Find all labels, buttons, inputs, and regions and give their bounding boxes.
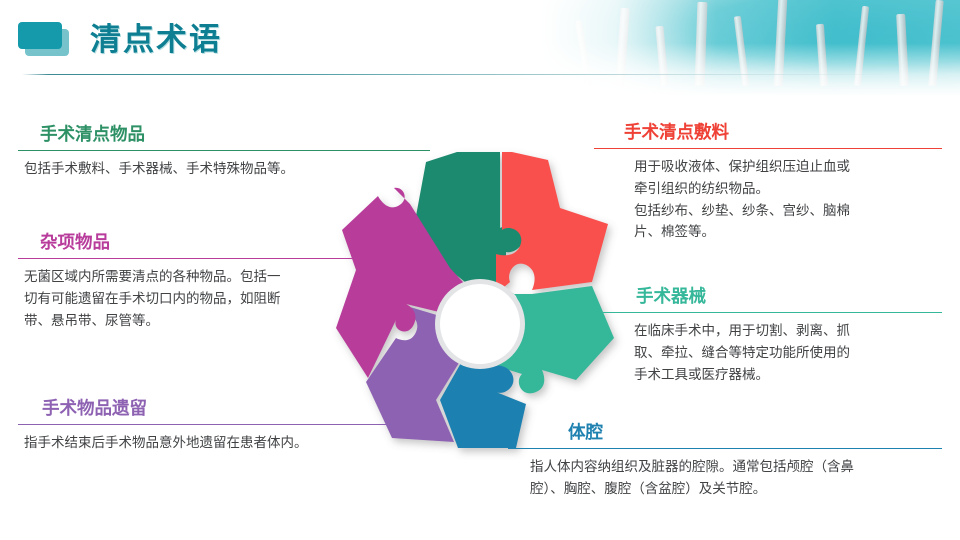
- piece-red: [496, 152, 608, 294]
- slide-canvas: 清点术语: [0, 0, 960, 540]
- term-body-line: 手术工具或医疗器械。: [634, 364, 942, 386]
- term-block-dressing: 手术清点敷料 用于吸收液体、保护组织压迫止血或 牵引组织的纺织物品。 包括纱布、…: [594, 122, 942, 243]
- term-block-cavity: 体腔 指人体内容纳组织及脏器的腔隙。通常包括颅腔（含鼻 腔）、胸腔、腹腔（含盆腔…: [508, 422, 942, 500]
- instrument-7: [816, 24, 828, 86]
- term-body-line: 片、棉签等。: [634, 221, 942, 243]
- term-body-misc: 无菌区域内所需要清点的各种物品。包括一 切有可能遗留在手术切口内的物品，如阻断 …: [18, 266, 416, 332]
- term-block-misc: 杂项物品 无菌区域内所需要清点的各种物品。包括一 切有可能遗留在手术切口内的物品…: [18, 232, 416, 331]
- term-body-line: 用于吸收液体、保护组织压迫止血或: [634, 156, 942, 178]
- term-rule-retained: [18, 424, 434, 425]
- term-rule-misc: [18, 258, 416, 259]
- term-body-items: 包括手术敷料、手术器械、手术特殊物品等。: [18, 158, 430, 180]
- term-body-line: 指手术结束后手术物品意外地遗留在患者体内。: [24, 432, 434, 454]
- instrument-1: [575, 20, 592, 86]
- term-rule-dressing: [594, 148, 942, 149]
- term-body-line: 切有可能遗留在手术切口内的物品，如阻断: [24, 288, 416, 310]
- term-rule-instruments: [594, 312, 942, 313]
- center-circle: [440, 284, 520, 364]
- term-body-line: 指人体内容纳组织及脏器的腔隙。通常包括颅腔（含鼻: [530, 456, 942, 478]
- term-block-items: 手术清点物品 包括手术敷料、手术器械、手术特殊物品等。: [18, 124, 430, 180]
- term-body-line: 腔）、胸腔、腹腔（含盆腔）及关节腔。: [530, 478, 942, 500]
- instrument-10: [928, 0, 943, 86]
- surgical-instruments-photo: [540, 0, 960, 96]
- term-body-retained: 指手术结束后手术物品意外地遗留在患者体内。: [18, 432, 434, 454]
- term-body-line: 无菌区域内所需要清点的各种物品。包括一: [24, 266, 416, 288]
- term-body-line: 在临床手术中，用于切割、剥离、抓: [634, 320, 942, 342]
- term-body-line: 带、悬吊带、尿管等。: [24, 310, 416, 332]
- photo-fade-overlay: [540, 0, 960, 96]
- term-body-instruments: 在临床手术中，用于切割、剥离、抓 取、牵拉、缝合等特定功能所使用的 手术工具或医…: [594, 320, 942, 386]
- instrument-3: [655, 26, 668, 86]
- term-heading-instruments: 手术器械: [594, 286, 942, 308]
- title-divider: [22, 74, 902, 75]
- term-body-line: 牵引组织的纺织物品。: [634, 178, 942, 200]
- instrument-5: [734, 16, 749, 86]
- card-front-shape: [18, 22, 62, 49]
- term-heading-cavity: 体腔: [508, 422, 942, 444]
- term-block-retained: 手术物品遗留 指手术结束后手术物品意外地遗留在患者体内。: [18, 398, 434, 454]
- term-heading-items: 手术清点物品: [18, 124, 430, 146]
- page-title: 清点术语: [90, 14, 222, 59]
- photo-teal-background: [540, 0, 960, 96]
- stacked-cards-icon: [18, 22, 66, 52]
- term-body-cavity: 指人体内容纳组织及脏器的腔隙。通常包括颅腔（含鼻 腔）、胸腔、腹腔（含盆腔）及关…: [508, 456, 942, 500]
- term-heading-misc: 杂项物品: [18, 232, 416, 254]
- instrument-9: [896, 14, 909, 86]
- term-rule-cavity: [508, 448, 942, 449]
- term-body-line: 包括手术敷料、手术器械、手术特殊物品等。: [24, 158, 430, 180]
- term-heading-retained: 手术物品遗留: [18, 398, 434, 420]
- term-body-dressing: 用于吸收液体、保护组织压迫止血或 牵引组织的纺织物品。 包括纱布、纱垫、纱条、宫…: [594, 156, 942, 243]
- term-body-line: 包括纱布、纱垫、纱条、宫纱、脑棉: [634, 200, 942, 222]
- term-rule-items: [18, 150, 430, 151]
- term-block-instruments: 手术器械 在临床手术中，用于切割、剥离、抓 取、牵拉、缝合等特定功能所使用的 手…: [594, 286, 942, 385]
- term-heading-dressing: 手术清点敷料: [594, 122, 942, 144]
- term-body-line: 取、牵拉、缝合等特定功能所使用的: [634, 342, 942, 364]
